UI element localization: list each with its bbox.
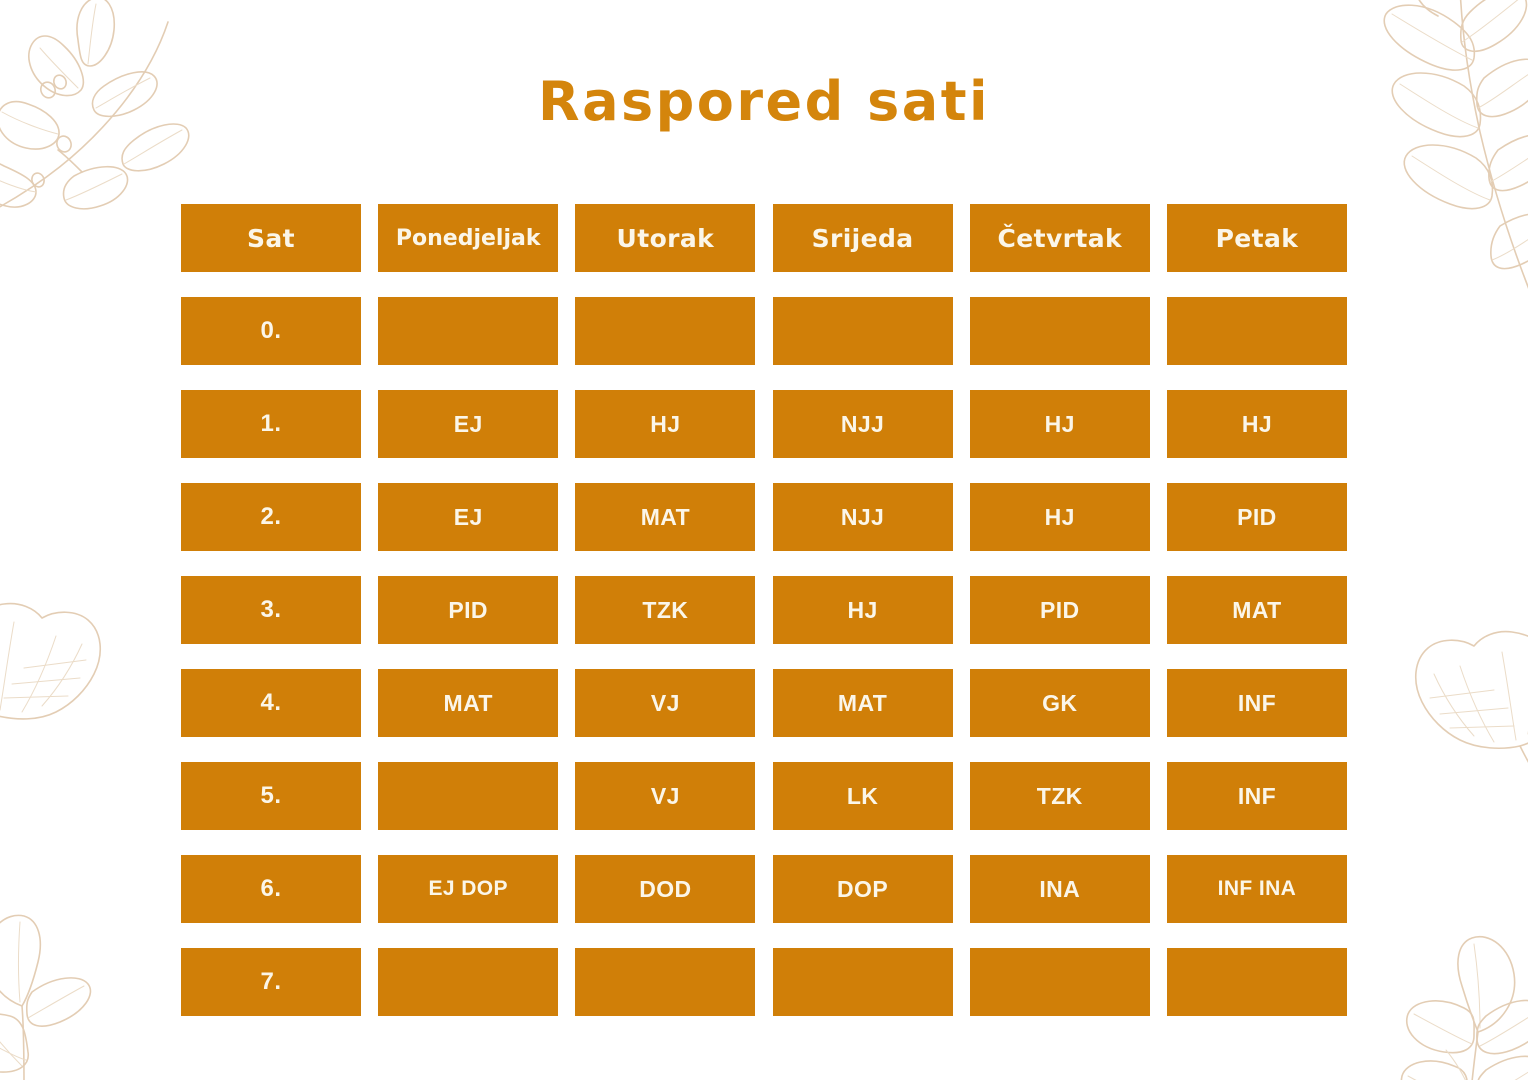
hour-label: 4. bbox=[181, 669, 361, 737]
timetable-cell-empty bbox=[970, 948, 1150, 1016]
timetable-cell-petak: PID bbox=[1167, 483, 1347, 551]
hour-label: 7. bbox=[181, 948, 361, 1016]
timetable-cell-utorak: MAT bbox=[575, 483, 755, 551]
timetable-cell-utorak: VJ bbox=[575, 669, 755, 737]
timetable-grid: SatPonedjeljakUtorakSrijedaČetvrtakPetak… bbox=[181, 204, 1347, 1016]
timetable-cell-empty bbox=[575, 948, 755, 1016]
timetable-cell-utorak: TZK bbox=[575, 576, 755, 644]
column-header-ponedjeljak: Ponedjeljak bbox=[378, 204, 558, 272]
timetable-cell-cetvrtak: HJ bbox=[970, 483, 1150, 551]
timetable-cell-petak: INF INA bbox=[1167, 855, 1347, 923]
column-header-sat: Sat bbox=[181, 204, 361, 272]
timetable-cell-cetvrtak: HJ bbox=[970, 390, 1150, 458]
page-title: Raspored sati bbox=[0, 70, 1528, 133]
timetable-cell-srijeda: MAT bbox=[773, 669, 953, 737]
timetable-cell-srijeda: NJJ bbox=[773, 483, 953, 551]
hour-label: 3. bbox=[181, 576, 361, 644]
hour-label: 0. bbox=[181, 297, 361, 365]
timetable-cell-petak: HJ bbox=[1167, 390, 1347, 458]
timetable-cell-srijeda: DOP bbox=[773, 855, 953, 923]
timetable-cell-empty bbox=[575, 297, 755, 365]
timetable-cell-empty bbox=[378, 297, 558, 365]
hour-label: 6. bbox=[181, 855, 361, 923]
timetable-cell-cetvrtak: GK bbox=[970, 669, 1150, 737]
column-header-utorak: Utorak bbox=[575, 204, 755, 272]
timetable-cell-cetvrtak: INA bbox=[970, 855, 1150, 923]
timetable-page: Raspored sati SatPonedjeljakUtorakSrijed… bbox=[0, 0, 1528, 1080]
hour-label: 5. bbox=[181, 762, 361, 830]
timetable-cell-empty bbox=[1167, 297, 1347, 365]
timetable-cell-petak: MAT bbox=[1167, 576, 1347, 644]
timetable-cell-empty bbox=[378, 948, 558, 1016]
timetable-cell-ponedjeljak: MAT bbox=[378, 669, 558, 737]
timetable-cell-empty bbox=[773, 948, 953, 1016]
timetable-cell-empty bbox=[773, 297, 953, 365]
column-header-cetvrtak: Četvrtak bbox=[970, 204, 1150, 272]
timetable-cell-utorak: VJ bbox=[575, 762, 755, 830]
timetable-cell-srijeda: HJ bbox=[773, 576, 953, 644]
timetable-cell-utorak: HJ bbox=[575, 390, 755, 458]
column-header-petak: Petak bbox=[1167, 204, 1347, 272]
timetable-cell-petak: INF bbox=[1167, 669, 1347, 737]
timetable-cell-ponedjeljak: EJ bbox=[378, 390, 558, 458]
timetable-cell-petak: INF bbox=[1167, 762, 1347, 830]
timetable-cell-ponedjeljak: EJ bbox=[378, 483, 558, 551]
timetable-cell-utorak: DOD bbox=[575, 855, 755, 923]
timetable-cell-srijeda: LK bbox=[773, 762, 953, 830]
timetable-cell-empty bbox=[1167, 948, 1347, 1016]
timetable-cell-empty bbox=[970, 297, 1150, 365]
timetable-cell-ponedjeljak: PID bbox=[378, 576, 558, 644]
column-header-srijeda: Srijeda bbox=[773, 204, 953, 272]
timetable-cell-ponedjeljak: EJ DOP bbox=[378, 855, 558, 923]
hour-label: 1. bbox=[181, 390, 361, 458]
timetable-cell-empty bbox=[378, 762, 558, 830]
timetable-cell-cetvrtak: TZK bbox=[970, 762, 1150, 830]
timetable-cell-cetvrtak: PID bbox=[970, 576, 1150, 644]
timetable-cell-srijeda: NJJ bbox=[773, 390, 953, 458]
hour-label: 2. bbox=[181, 483, 361, 551]
